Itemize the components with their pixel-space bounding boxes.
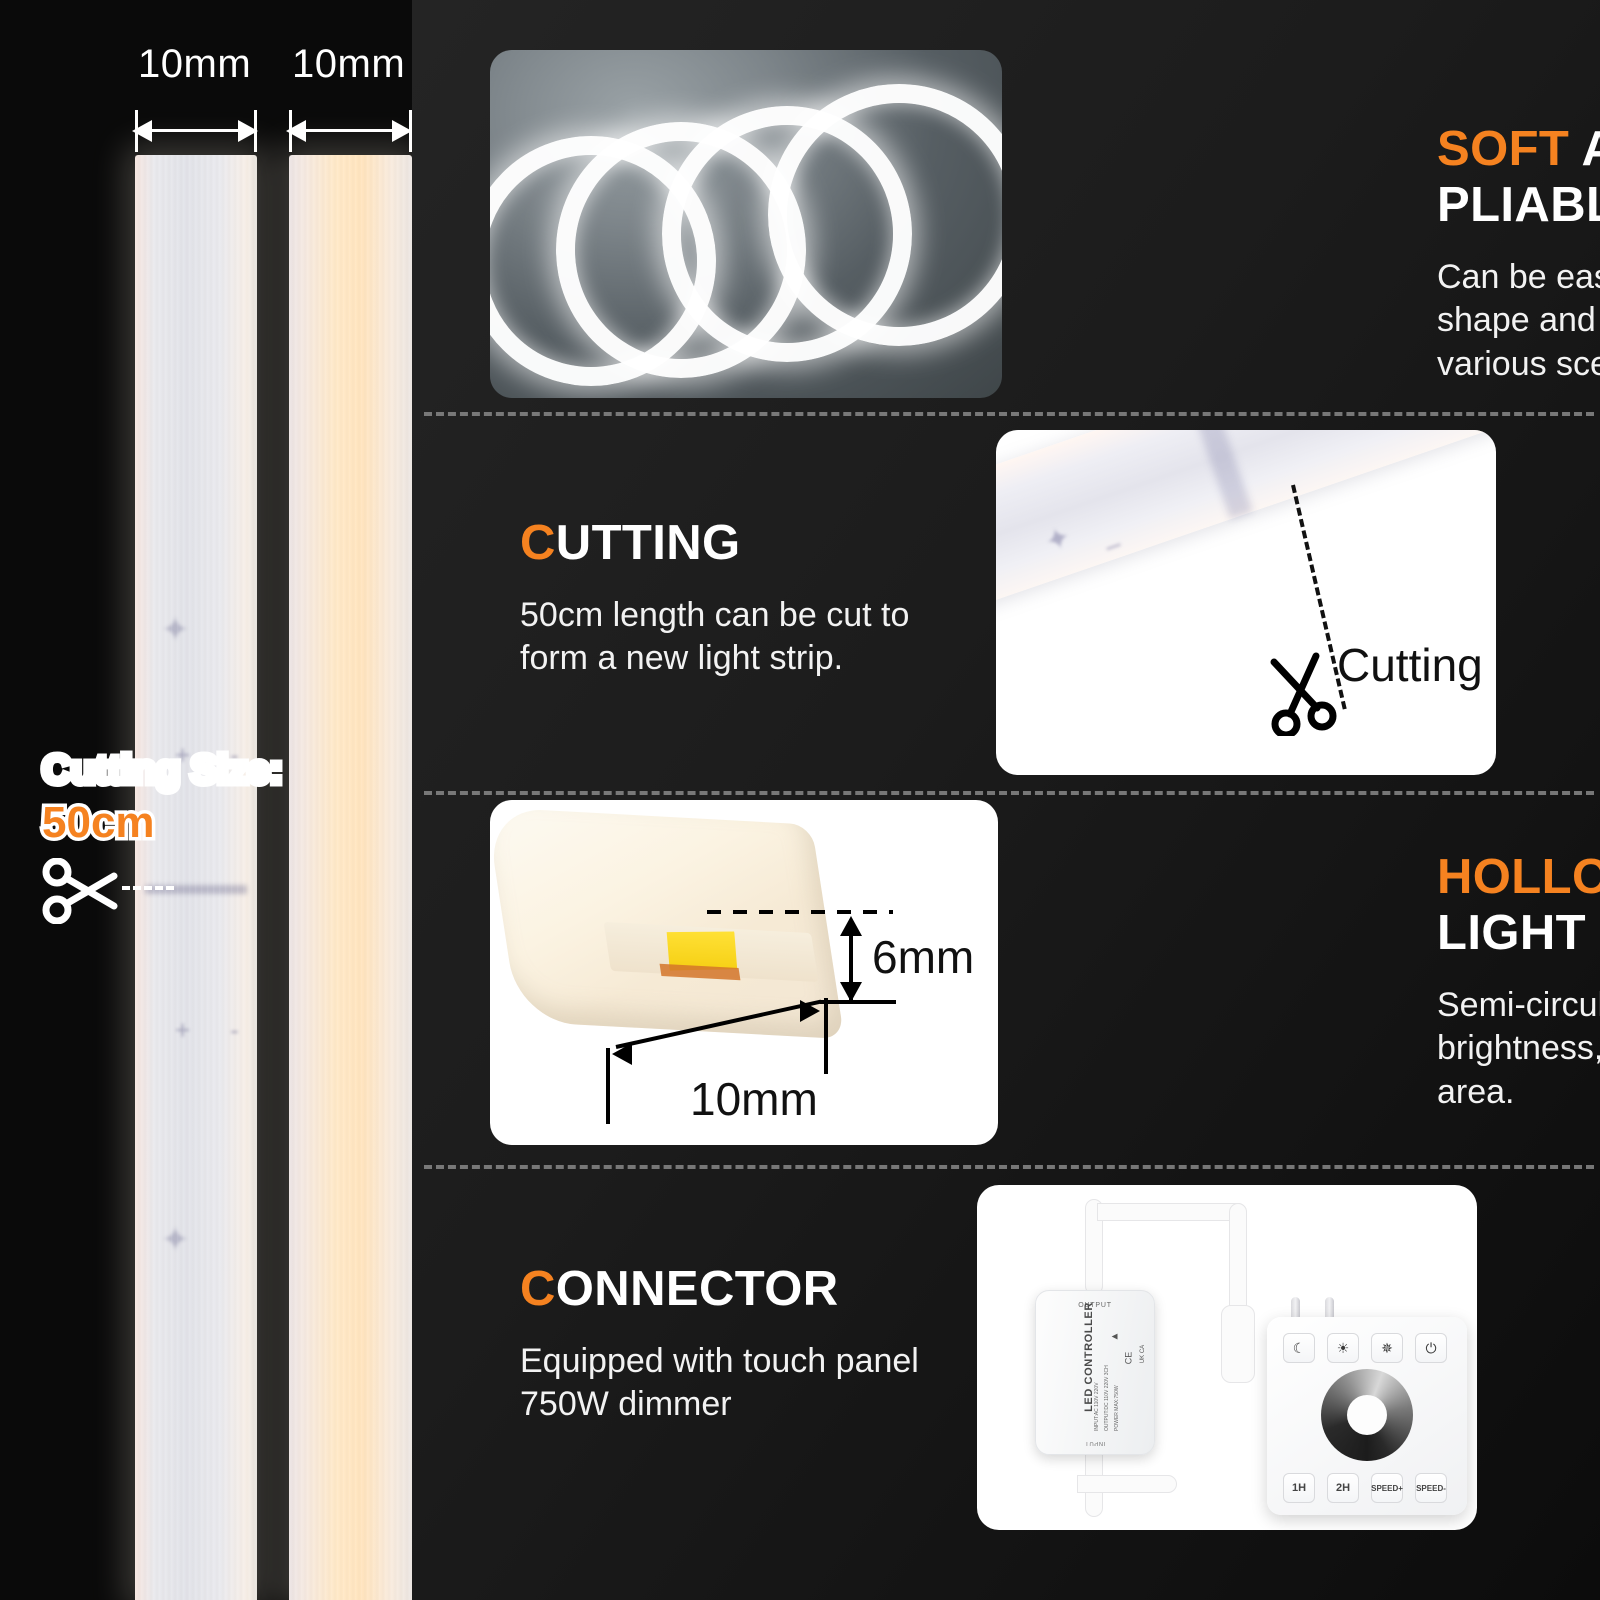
ukca-mark-icon: UK CA bbox=[1140, 1345, 1146, 1363]
night-mode-icon: ☾ bbox=[1293, 1340, 1306, 1357]
soft-and-pliable-headline: SOFT AND PLIABLE bbox=[1437, 122, 1600, 234]
cutting-body: 50cm length can be cut to form a new lig… bbox=[520, 594, 960, 681]
mode-button[interactable]: ✵ bbox=[1371, 1333, 1403, 1363]
ce-mark-icon: CE bbox=[1123, 1352, 1133, 1365]
mode-icon: ✵ bbox=[1381, 1340, 1393, 1357]
connector-text: CONNECTOR Equipped with touch panel 750W… bbox=[520, 1262, 980, 1427]
speed-up-button[interactable]: SPEED+ bbox=[1371, 1473, 1403, 1503]
speed-down-button[interactable]: SPEED- bbox=[1415, 1473, 1447, 1503]
strip-cut-band bbox=[1189, 430, 1253, 519]
cut-dash-line bbox=[122, 886, 174, 890]
cable-bend bbox=[1097, 1203, 1247, 1221]
dim-arrowhead-down-6mm bbox=[840, 982, 862, 1002]
dimension-label-cool-strip: 10mm bbox=[138, 42, 251, 87]
headline-highlight: C bbox=[520, 1262, 556, 1316]
cable-lower-bend bbox=[1077, 1475, 1177, 1493]
scissors-icon bbox=[42, 858, 118, 929]
cutting-headline: CUTTING bbox=[520, 516, 960, 572]
strip-body-3d bbox=[490, 807, 844, 1039]
dim-tick-10mm-left bbox=[606, 1048, 610, 1124]
dim-arrow-line-2 bbox=[302, 129, 397, 132]
cutting-size-callout: Cutting Size: 50cm bbox=[42, 748, 372, 848]
product-strip-panel: 10mm 10mm ✦ +- +- ✦ Cutting Size: 50cm bbox=[0, 0, 412, 1600]
dim-tick-10mm-right bbox=[824, 998, 828, 1074]
strip-polarity-mark: − bbox=[1100, 529, 1128, 567]
soft-and-pliable-body: Can be easily made into any shape and su… bbox=[1437, 256, 1600, 387]
headline-highlight: C bbox=[520, 516, 556, 570]
led-controller-box: OUTPUT LED CONTROLLER INPUT:AC 110V 220V… bbox=[1035, 1290, 1155, 1455]
headline-rest: ONNECTOR bbox=[556, 1262, 839, 1316]
strip-star-mark: ✦ bbox=[1041, 519, 1076, 560]
controller-spec-1: INPUT:AC 110V 220V bbox=[1094, 1382, 1100, 1431]
strip-star-mark: ✦ bbox=[161, 1220, 190, 1260]
dimension-6mm-label: 6mm bbox=[872, 930, 974, 984]
hollow-neon-light-headline: HOLLOW NEON LIGHT bbox=[1437, 850, 1600, 962]
power-button[interactable]: ⏻ bbox=[1415, 1333, 1447, 1363]
controller-input-label: INPUT bbox=[1036, 1440, 1154, 1446]
brightness-dial[interactable] bbox=[1321, 1369, 1413, 1461]
hollow-neon-light-text: HOLLOW NEON LIGHT Semi-circular light st… bbox=[1437, 850, 1600, 1114]
cross-section-photo: 6mm 10mm bbox=[490, 800, 998, 1145]
controller-spec-2: OUTPUT:DC 110V 220V 3CH bbox=[1104, 1365, 1110, 1431]
strip-star-mark: ✦ bbox=[161, 610, 190, 650]
dim-arrow-line-1 bbox=[148, 129, 243, 132]
timer-1h-button[interactable]: 1H bbox=[1283, 1473, 1315, 1503]
strip-cut-line-photo: ✦ ✦ − − Cutting bbox=[996, 430, 1496, 775]
features-area: SOFT AND PLIABLE Can be easily made into… bbox=[412, 0, 1600, 1600]
scissors-icon bbox=[1268, 650, 1342, 736]
strip-polarity-marks: +- bbox=[135, 1015, 257, 1046]
controller-spec-3: POWER MAX:750W bbox=[1114, 1385, 1120, 1431]
dim-arrowhead-left-1 bbox=[132, 120, 152, 142]
touch-panel-dimmer[interactable]: ☾ ☀ ✵ ⏻ 1H 2H SPEED+ SPEED- bbox=[1267, 1317, 1467, 1515]
warm-white-led-strip bbox=[289, 155, 412, 1600]
soft-and-pliable-text: SOFT AND PLIABLE Can be easily made into… bbox=[1437, 122, 1600, 386]
dim-arrowhead-up-6mm bbox=[840, 916, 862, 936]
headline-highlight: SOFT bbox=[1437, 122, 1569, 176]
headline-highlight: HOLLOW bbox=[1437, 850, 1600, 904]
cutting-size-label: Cutting Size: bbox=[42, 748, 372, 793]
hollow-neon-light-body: Semi-circular light strip, high brightne… bbox=[1437, 984, 1600, 1115]
night-mode-button[interactable]: ☾ bbox=[1283, 1333, 1315, 1363]
dim-arrowhead-right-2 bbox=[392, 120, 412, 142]
connector-body: Equipped with touch panel 750W dimmer bbox=[520, 1340, 980, 1427]
led-controller-and-touch-panel-photo: OUTPUT LED CONTROLLER INPUT:AC 110V 220V… bbox=[977, 1185, 1477, 1530]
dim-arrowhead-right-1 bbox=[238, 120, 258, 142]
timer-2h-button[interactable]: 2H bbox=[1327, 1473, 1359, 1503]
section-divider bbox=[424, 412, 1594, 416]
connector-headline: CONNECTOR bbox=[520, 1262, 980, 1318]
dim-arrowhead-left-10mm bbox=[612, 1043, 632, 1065]
dimension-10mm-label: 10mm bbox=[690, 1072, 818, 1126]
controller-output-label: OUTPUT bbox=[1036, 1302, 1154, 1309]
dim-guide-top bbox=[707, 910, 893, 914]
power-icon: ⏻ bbox=[1425, 1340, 1436, 1357]
cable-connector-barrel bbox=[1221, 1305, 1255, 1383]
cutting-text: CUTTING 50cm length can be cut to form a… bbox=[520, 516, 960, 681]
headline-rest: UTTING bbox=[556, 516, 741, 570]
cutting-size-value: 50cm bbox=[42, 798, 372, 848]
dimension-label-warm-strip: 10mm bbox=[292, 42, 405, 87]
cool-white-led-strip: ✦ +- +- ✦ bbox=[135, 155, 257, 1600]
cutting-caption: Cutting bbox=[1337, 638, 1483, 692]
dim-arrowhead-left-2 bbox=[286, 120, 306, 142]
led-strip-closeup: ✦ ✦ − − bbox=[996, 430, 1496, 607]
brightness-button[interactable]: ☀ bbox=[1327, 1333, 1359, 1363]
brightness-icon: ☀ bbox=[1337, 1340, 1350, 1357]
dim-arrowhead-right-10mm bbox=[800, 1000, 820, 1022]
section-divider bbox=[424, 1165, 1594, 1169]
weee-icon: ▲ bbox=[1109, 1332, 1120, 1342]
section-divider bbox=[424, 791, 1594, 795]
coiled-led-strip-photo bbox=[490, 50, 1002, 398]
